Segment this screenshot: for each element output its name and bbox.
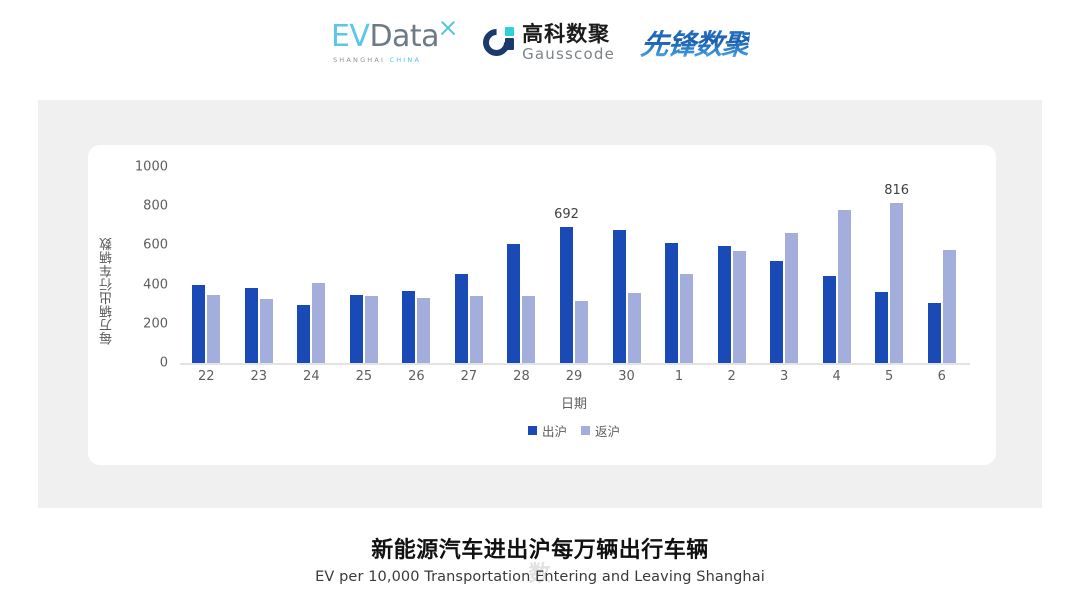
bar-back[interactable] bbox=[417, 298, 430, 363]
bar-back[interactable] bbox=[680, 274, 693, 363]
y-axis-tick-label: 0 bbox=[160, 356, 168, 371]
bar-group bbox=[600, 167, 653, 363]
bar-value-label: 816 bbox=[884, 183, 909, 198]
slide-root: EV Data SHANGHAI CHINA 高科数聚 Gausscode 先锋… bbox=[0, 0, 1080, 608]
evdata-tagline: SHANGHAI CHINA bbox=[333, 56, 421, 64]
bar-back[interactable] bbox=[470, 296, 483, 363]
bar-group bbox=[705, 167, 758, 363]
legend-item-out[interactable]: 出沪 bbox=[528, 421, 567, 440]
xianfeng-logo: 先锋数聚 bbox=[639, 23, 751, 63]
bar-back[interactable]: 816 bbox=[890, 203, 903, 363]
x-axis-tick-label: 1 bbox=[653, 369, 706, 384]
x-axis-tick-label: 24 bbox=[285, 369, 338, 384]
x-axis-ticks: 222324252627282930123456 bbox=[180, 369, 968, 384]
bar-group bbox=[810, 167, 863, 363]
y-axis-tick-label: 1000 bbox=[135, 160, 168, 175]
legend-label: 返沪 bbox=[595, 421, 620, 440]
y-axis-tick-label: 600 bbox=[143, 238, 168, 253]
bar-out[interactable] bbox=[718, 246, 731, 363]
x-axis-tick-label: 3 bbox=[758, 369, 811, 384]
bar-out[interactable] bbox=[875, 292, 888, 363]
bar-back[interactable] bbox=[522, 296, 535, 363]
bar-out[interactable] bbox=[823, 276, 836, 363]
x-cross-icon bbox=[437, 18, 457, 38]
y-axis-tick-label: 800 bbox=[143, 199, 168, 214]
evdata-word-data: Data bbox=[369, 22, 439, 52]
x-axis-tick-label: 25 bbox=[338, 369, 391, 384]
evdata-logo: EV Data SHANGHAI CHINA bbox=[331, 22, 457, 64]
y-axis-ticks: 10008006004002000 bbox=[116, 167, 174, 363]
x-axis-tick-label: 4 bbox=[810, 369, 863, 384]
gausscode-logo: 高科数聚 Gausscode bbox=[483, 24, 615, 62]
x-axis-tick-label: 26 bbox=[390, 369, 443, 384]
bar-group bbox=[653, 167, 706, 363]
bar-group bbox=[180, 167, 233, 363]
bar-back[interactable] bbox=[733, 251, 746, 363]
bar-back[interactable] bbox=[628, 293, 641, 363]
gausscode-name-cn: 高科数聚 bbox=[522, 24, 615, 45]
bar-group: 816 bbox=[863, 167, 916, 363]
bar-group bbox=[758, 167, 811, 363]
bar-back[interactable] bbox=[365, 296, 378, 363]
bar-out[interactable] bbox=[665, 243, 678, 363]
x-axis-tick-label: 29 bbox=[548, 369, 601, 384]
plot-area: 692816 bbox=[180, 167, 968, 363]
x-axis-tick-label: 28 bbox=[495, 369, 548, 384]
bar-group bbox=[495, 167, 548, 363]
bar-out[interactable] bbox=[245, 288, 258, 363]
evdata-tagline-city: SHANGHAI bbox=[333, 56, 385, 64]
evdata-wordmark: EV Data bbox=[331, 22, 457, 52]
bar-back[interactable] bbox=[260, 299, 273, 363]
bar-group bbox=[285, 167, 338, 363]
page-subtitle: EV per 10,000 Transportation Entering an… bbox=[0, 569, 1080, 585]
bar-back[interactable] bbox=[838, 210, 851, 363]
chart-card: 每万辆出行车辆数 10008006004002000 692816 222324… bbox=[88, 145, 996, 465]
bar-back[interactable] bbox=[575, 301, 588, 363]
bar-back[interactable] bbox=[943, 250, 956, 363]
bar-back[interactable] bbox=[207, 295, 220, 363]
bar-out[interactable]: 692 bbox=[560, 227, 573, 363]
bar-out[interactable] bbox=[350, 295, 363, 363]
gausscode-mark-icon bbox=[483, 27, 515, 59]
bar-out[interactable] bbox=[297, 305, 310, 363]
page-title: 新能源汽车进出沪每万辆出行车辆 bbox=[0, 532, 1080, 564]
bar-back[interactable] bbox=[785, 233, 798, 363]
evdata-tagline-country: CHINA bbox=[389, 56, 421, 64]
bar-out[interactable] bbox=[770, 261, 783, 363]
gausscode-name-en: Gausscode bbox=[522, 47, 615, 62]
bar-out[interactable] bbox=[402, 291, 415, 363]
gausscode-text: 高科数聚 Gausscode bbox=[522, 24, 615, 62]
x-axis-tick-label: 6 bbox=[915, 369, 968, 384]
logo-bar: EV Data SHANGHAI CHINA 高科数聚 Gausscode 先锋… bbox=[0, 22, 1080, 64]
x-axis-line bbox=[180, 363, 970, 365]
bar-group bbox=[390, 167, 443, 363]
bar-group bbox=[233, 167, 286, 363]
bar-chart: 每万辆出行车辆数 10008006004002000 692816 222324… bbox=[88, 145, 996, 465]
chart-legend: 出沪返沪 bbox=[180, 421, 968, 440]
bar-back[interactable] bbox=[312, 283, 325, 363]
x-axis-title: 日期 bbox=[180, 393, 968, 412]
x-axis-tick-label: 2 bbox=[705, 369, 758, 384]
bar-out[interactable] bbox=[613, 230, 626, 363]
bar-out[interactable] bbox=[455, 274, 468, 363]
x-axis-tick-label: 23 bbox=[233, 369, 286, 384]
evdata-word-ev: EV bbox=[331, 22, 369, 52]
bar-out[interactable] bbox=[507, 244, 520, 363]
x-axis-tick-label: 22 bbox=[180, 369, 233, 384]
bar-group bbox=[915, 167, 968, 363]
legend-label: 出沪 bbox=[542, 421, 567, 440]
legend-swatch bbox=[528, 426, 537, 435]
legend-item-back[interactable]: 返沪 bbox=[581, 421, 620, 440]
bar-groups: 692816 bbox=[180, 167, 968, 363]
x-axis-tick-label: 30 bbox=[600, 369, 653, 384]
y-axis-title: 每万辆出行车辆数 bbox=[98, 237, 117, 345]
y-axis-tick-label: 400 bbox=[143, 277, 168, 292]
y-axis-tick-label: 200 bbox=[143, 316, 168, 331]
bar-out[interactable] bbox=[928, 303, 941, 363]
bar-group: 692 bbox=[548, 167, 601, 363]
bar-value-label: 692 bbox=[554, 207, 579, 222]
x-axis-tick-label: 27 bbox=[443, 369, 496, 384]
x-axis-tick-label: 5 bbox=[863, 369, 916, 384]
bar-group bbox=[338, 167, 391, 363]
bar-group bbox=[443, 167, 496, 363]
legend-swatch bbox=[581, 426, 590, 435]
bar-out[interactable] bbox=[192, 285, 205, 363]
